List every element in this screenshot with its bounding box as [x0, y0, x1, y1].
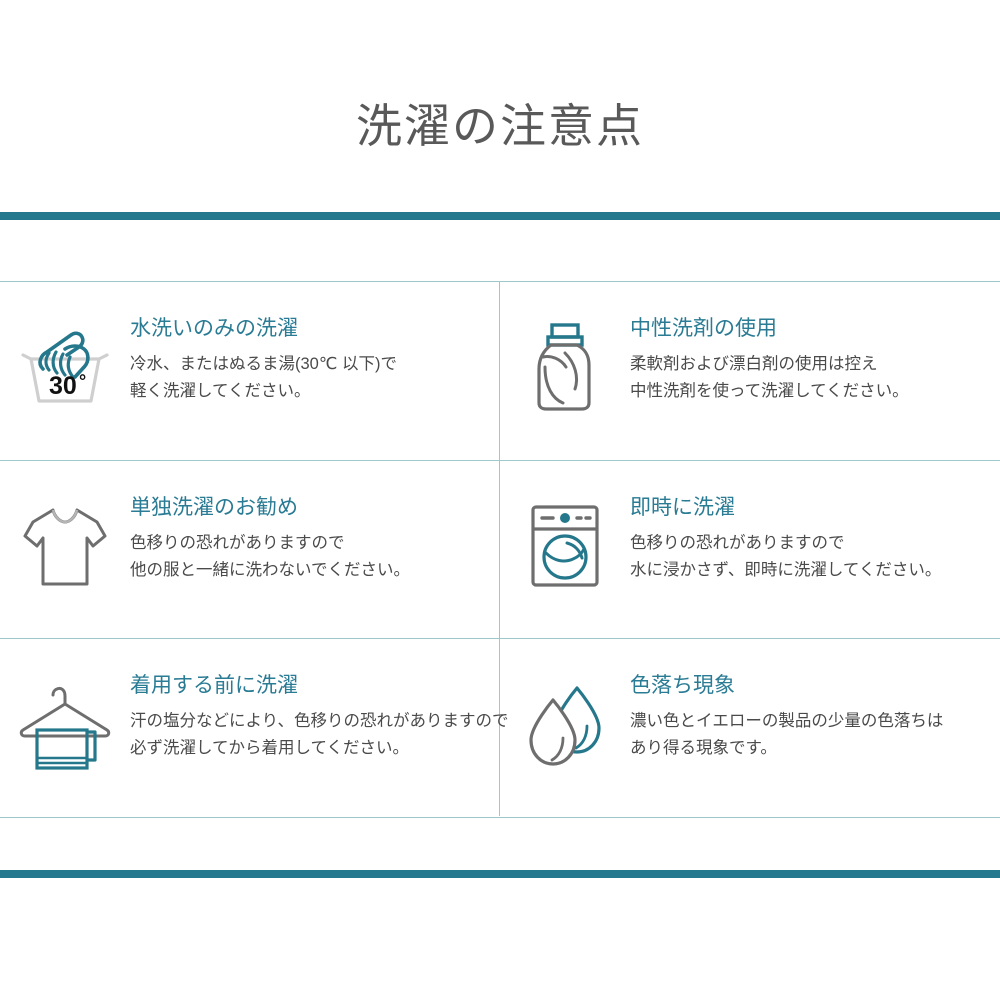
card-line-2: 中性洗剤を使って洗濯してください。	[630, 378, 909, 405]
bottom-accent-rule	[0, 870, 1000, 878]
water-drops-icon	[500, 669, 630, 779]
card-line-2: 水に浸かさず、即時に洗濯してください。	[630, 557, 941, 584]
detergent-bottle-icon	[500, 312, 630, 422]
laundry-care-infographic: 洗濯の注意点 30 °	[0, 0, 1000, 1000]
care-instruction-grid: 30 ° 水洗いのみの洗濯 冷水、またはぬるま湯(30℃ 以下)で 軽く洗濯して…	[0, 281, 1000, 818]
care-card-text: 色落ち現象 濃い色とイエローの製品の少量の色落ちは あり得る現象です。	[630, 669, 943, 762]
card-line-1: 色移りの恐れがありますので	[630, 530, 941, 557]
card-title: 着用する前に洗濯	[130, 671, 509, 701]
care-card-text: 着用する前に洗濯 汗の塩分などにより、色移りの恐れがありますので 必ず洗濯してか…	[130, 669, 509, 762]
card-line-1: 汗の塩分などにより、色移りの恐れがありますので	[130, 708, 509, 735]
care-card-text: 中性洗剤の使用 柔軟剤および漂白剤の使用は控え 中性洗剤を使って洗濯してください…	[630, 312, 909, 405]
page-title: 洗濯の注意点	[0, 96, 1000, 156]
care-card-color-bleeding: 色落ち現象 濃い色とイエローの製品の少量の色落ちは あり得る現象です。	[500, 638, 1000, 816]
handwash-degree-symbol: °	[79, 371, 86, 391]
card-title: 単独洗濯のお勧め	[130, 493, 410, 523]
card-title: 色落ち現象	[630, 671, 943, 701]
care-card-handwash: 30 ° 水洗いのみの洗濯 冷水、またはぬるま湯(30℃ 以下)で 軽く洗濯して…	[0, 282, 500, 460]
handwash-temp-label: 30	[49, 372, 77, 400]
handwash-basin-30-icon: 30 °	[0, 312, 130, 422]
tshirt-icon	[0, 491, 130, 601]
card-title: 即時に洗濯	[630, 493, 941, 523]
card-line-1: 冷水、またはぬるま湯(30℃ 以下)で	[130, 351, 397, 378]
care-card-text: 単独洗濯のお勧め 色移りの恐れがありますので 他の服と一緒に洗わないでください。	[130, 491, 410, 584]
card-line-2: 軽く洗濯してください。	[130, 378, 397, 405]
hanger-towel-icon	[0, 669, 130, 779]
care-card-immediate-wash: 即時に洗濯 色移りの恐れがありますので 水に浸かさず、即時に洗濯してください。	[500, 460, 1000, 638]
card-title: 水洗いのみの洗濯	[130, 314, 397, 344]
top-accent-rule	[0, 212, 1000, 220]
care-card-text: 水洗いのみの洗濯 冷水、またはぬるま湯(30℃ 以下)で 軽く洗濯してください。	[130, 312, 397, 405]
card-line-2: 他の服と一緒に洗わないでください。	[130, 557, 410, 584]
card-title: 中性洗剤の使用	[630, 314, 909, 344]
title-area: 洗濯の注意点	[0, 96, 1000, 156]
card-line-2: 必ず洗濯してから着用してください。	[130, 735, 509, 762]
care-card-text: 即時に洗濯 色移りの恐れがありますので 水に浸かさず、即時に洗濯してください。	[630, 491, 941, 584]
card-line-1: 色移りの恐れがありますので	[130, 530, 410, 557]
card-line-2: あり得る現象です。	[630, 735, 943, 762]
care-card-separate-wash: 単独洗濯のお勧め 色移りの恐れがありますので 他の服と一緒に洗わないでください。	[0, 460, 500, 638]
washing-machine-icon	[500, 491, 630, 601]
card-line-1: 柔軟剤および漂白剤の使用は控え	[630, 351, 909, 378]
care-card-wash-before-wear: 着用する前に洗濯 汗の塩分などにより、色移りの恐れがありますので 必ず洗濯してか…	[0, 638, 500, 816]
card-line-1: 濃い色とイエローの製品の少量の色落ちは	[630, 708, 943, 735]
care-card-detergent: 中性洗剤の使用 柔軟剤および漂白剤の使用は控え 中性洗剤を使って洗濯してください…	[500, 282, 1000, 460]
